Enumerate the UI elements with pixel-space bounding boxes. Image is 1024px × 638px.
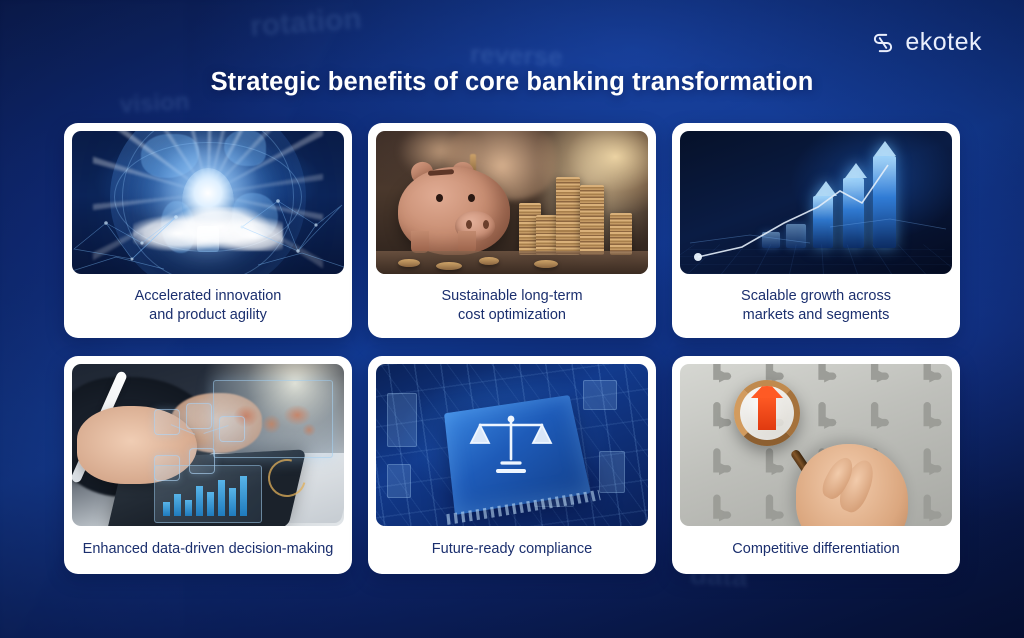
brand-name: ekotek (905, 28, 982, 57)
benefits-grid: Accelerated innovation and product agili… (64, 123, 960, 574)
brand-logo[interactable]: ekotek (870, 28, 982, 57)
caption-line-1: Enhanced data-driven decision-making (83, 540, 334, 559)
page-title: Strategic benefits of core banking trans… (0, 68, 1024, 97)
benefit-card-scalable-growth[interactable]: Scalable growth across markets and segme… (672, 123, 960, 338)
caption-line-2: and product agility (149, 307, 267, 323)
card-caption: Future-ready compliance (376, 526, 648, 574)
card-caption: Scalable growth across markets and segme… (680, 274, 952, 338)
card-caption: Competitive differentiation (680, 526, 952, 574)
magnifier-arrow-image (680, 364, 952, 526)
benefit-card-accelerated-innovation[interactable]: Accelerated innovation and product agili… (64, 123, 352, 338)
caption-line-1: Scalable growth across (741, 288, 891, 304)
scales-of-justice-icon (468, 409, 554, 481)
holo-people-icon (154, 409, 180, 435)
caption-line-1: Sustainable long-term (441, 288, 582, 304)
caption-line-1: Accelerated innovation (135, 288, 282, 304)
benefit-card-competitive-differentiation[interactable]: Competitive differentiation (672, 356, 960, 574)
caption-line-2: markets and segments (743, 307, 890, 323)
caption-line-2: cost optimization (458, 307, 566, 323)
piggy-bank-image (376, 131, 648, 274)
background-artifact-text-1: rotation (249, 2, 363, 44)
benefit-card-future-ready-compliance[interactable]: Future-ready compliance (368, 356, 656, 574)
red-up-arrow-icon (758, 396, 776, 430)
card-caption: Sustainable long-term cost optimization (376, 274, 648, 338)
holo-monitor-icon (186, 403, 212, 429)
growth-chart-image (680, 131, 952, 274)
caption-line-1: Future-ready compliance (432, 540, 592, 559)
card-caption: Enhanced data-driven decision-making (72, 526, 344, 574)
slide-canvas: rotation reverse vision data ekotek Stra… (0, 0, 1024, 638)
caption-line-1: Competitive differentiation (732, 540, 899, 559)
benefit-card-data-driven-decisions[interactable]: Enhanced data-driven decision-making (64, 356, 352, 574)
lightbulb-globe-image (72, 131, 344, 274)
benefit-card-cost-optimization[interactable]: Sustainable long-term cost optimization (368, 123, 656, 338)
compliance-chip-image (376, 364, 648, 526)
interlocking-loops-icon (870, 30, 896, 56)
card-caption: Accelerated innovation and product agili… (72, 274, 344, 338)
holo-cloud-icon (219, 416, 245, 442)
tablet-analytics-image (72, 364, 344, 526)
